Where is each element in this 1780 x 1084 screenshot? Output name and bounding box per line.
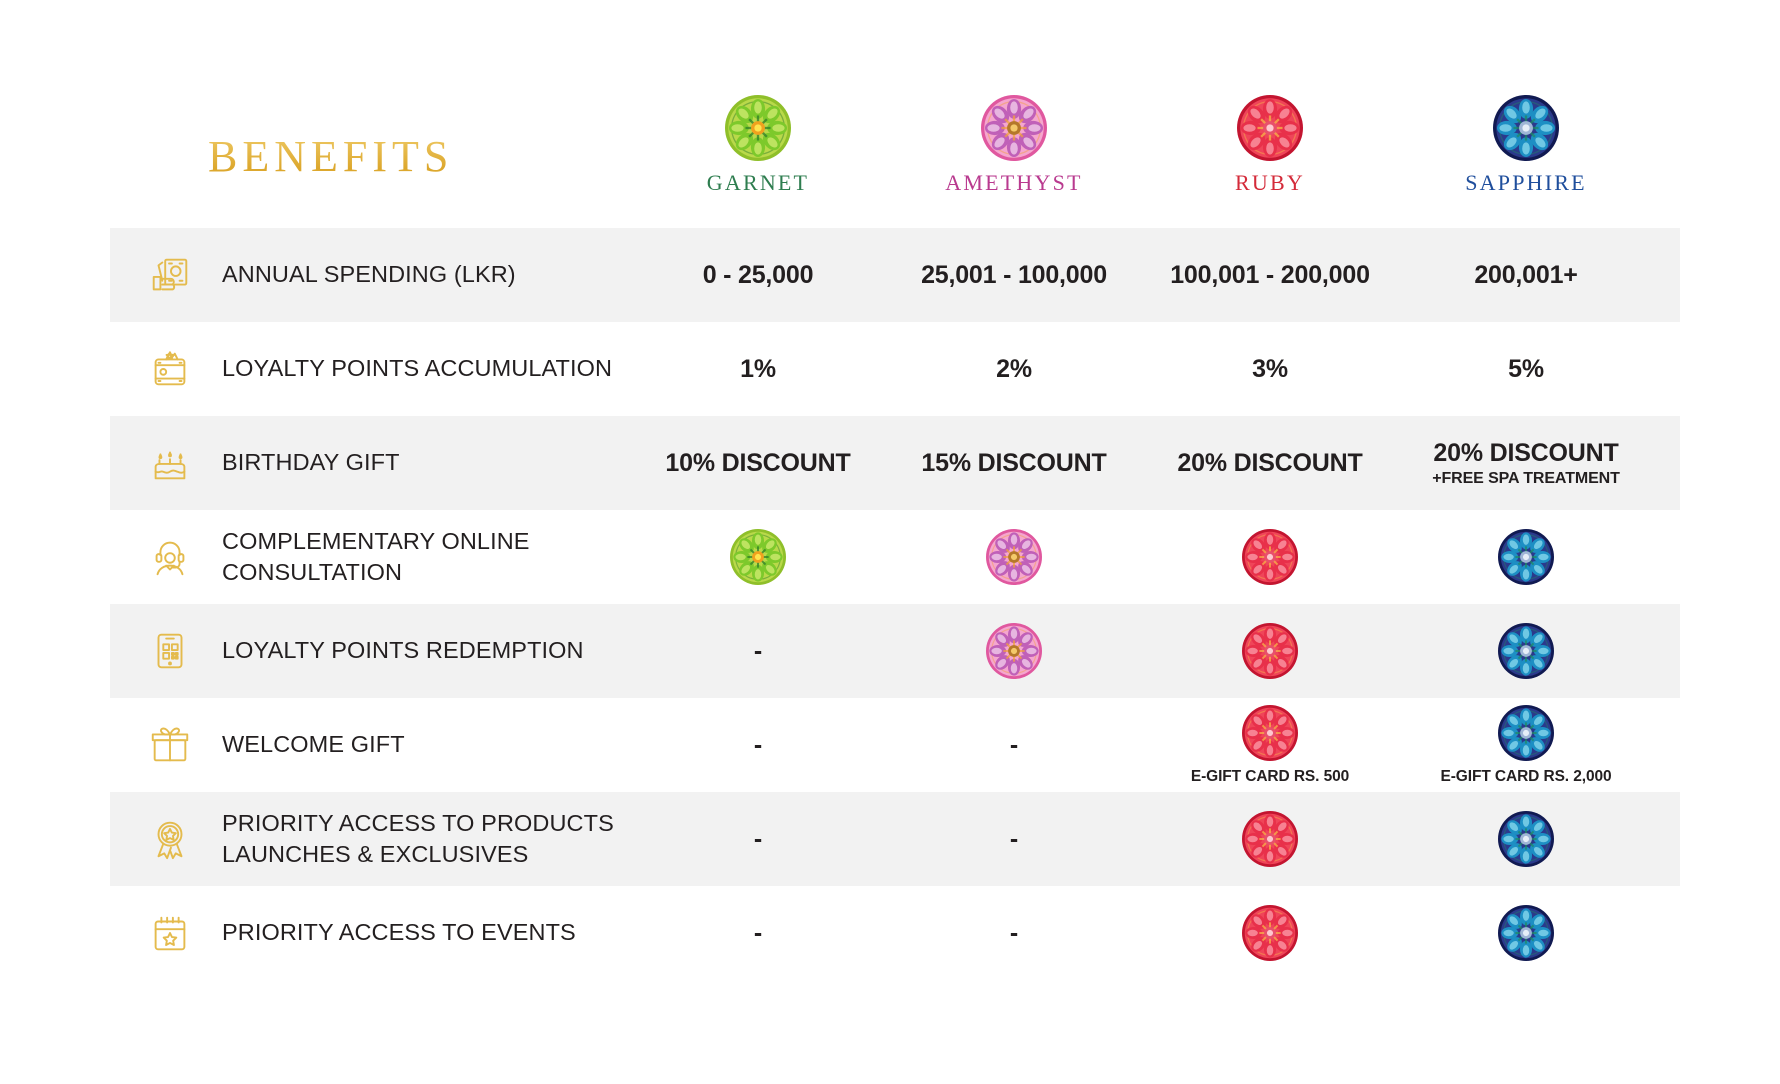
benefit-value-cell: 20% DISCOUNT [1142,416,1398,510]
benefit-value-cell: - [630,604,886,698]
benefit-value-cell [1398,510,1654,604]
benefit-value-cell [1398,886,1654,980]
benefit-value-cell: E-GIFT CARD RS. 2,000 [1398,698,1654,792]
tier-header-amethyst: AMETHYST [886,95,1142,200]
sapphire-gem-icon [1498,811,1554,867]
benefit-label-cell: WELCOME GIFT [110,698,630,792]
not-available-dash: - [754,731,762,760]
table-row: ANNUAL SPENDING (LKR)0 - 25,00025,001 - … [110,228,1680,322]
benefit-label: COMPLEMENTARY ONLINE CONSULTATION [222,526,530,588]
sapphire-gem-icon [1493,95,1559,170]
sapphire-gem-icon [1498,623,1554,679]
value-text: 15% DISCOUNT [921,449,1106,478]
ruby-gem-icon [1242,623,1298,679]
tier-name-label: RUBY [1235,170,1305,196]
not-available-dash: - [754,919,762,948]
benefit-value-cell [630,510,886,604]
benefit-value-cell: 0 - 25,000 [630,228,886,322]
not-available-dash: - [1010,919,1018,948]
table-row: PRIORITY ACCESS TO PRODUCTS LAUNCHES & E… [110,792,1680,886]
benefit-label: ANNUAL SPENDING (LKR) [222,259,516,290]
birthday-cake-icon [140,435,200,491]
table-row: WELCOME GIFT-- [110,698,1680,792]
value-subtext: +FREE SPA TREATMENT [1432,470,1620,488]
value-text: 1% [740,355,776,384]
benefit-value-cell: - [630,792,886,886]
value-text: 20% DISCOUNT [1433,439,1618,468]
table-body: ANNUAL SPENDING (LKR)0 - 25,00025,001 - … [110,228,1680,980]
benefit-value-cell: 1% [630,322,886,416]
benefit-value-cell [1142,886,1398,980]
benefit-value-cell: 2% [886,322,1142,416]
calendar-star-icon [140,905,200,961]
benefit-value-cell [1142,792,1398,886]
benefit-value-cell: - [630,698,886,792]
cash-in-hand-icon [140,247,200,303]
benefit-value-cell: 3% [1142,322,1398,416]
benefit-label: BIRTHDAY GIFT [222,447,400,478]
benefit-value-cell: E-GIFT CARD RS. 500 [1142,698,1398,792]
benefit-value-cell [1398,604,1654,698]
value-text: 5% [1508,355,1544,384]
value-text: 2% [996,355,1032,384]
award-ribbon-icon [140,811,200,867]
table-row: PRIORITY ACCESS TO EVENTS-- [110,886,1680,980]
benefit-label: LOYALTY POINTS ACCUMULATION [222,353,612,384]
ruby-gem-icon [1237,95,1303,170]
ruby-gem-icon [1242,705,1298,761]
benefit-value-cell [886,604,1142,698]
wallet-icon [140,341,200,397]
benefit-value-cell: - [886,792,1142,886]
value-text: 25,001 - 100,000 [921,261,1107,290]
ruby-gem-icon [1242,811,1298,867]
benefit-value-cell [1142,604,1398,698]
benefits-comparison-table: BENEFITS [0,0,1780,1084]
benefit-label: PRIORITY ACCESS TO EVENTS [222,917,576,948]
value-text: 200,001+ [1474,261,1577,290]
benefit-value-cell: 15% DISCOUNT [886,416,1142,510]
sapphire-gem-icon [1498,705,1554,761]
benefit-value-cell [886,510,1142,604]
table-header: BENEFITS [110,86,1680,200]
benefit-value-cell: 10% DISCOUNT [630,416,886,510]
tier-header-garnet: GARNET [630,95,886,200]
garnet-gem-icon [730,529,786,585]
not-available-dash: - [754,825,762,854]
value-caption: E-GIFT CARD RS. 500 [1191,768,1349,786]
tier-name-label: GARNET [707,170,809,196]
value-text: 0 - 25,000 [703,261,814,290]
value-text: 100,001 - 200,000 [1170,261,1370,290]
not-available-dash: - [1010,825,1018,854]
headset-support-icon [140,529,200,585]
table-row: LOYALTY POINTS REDEMPTION- [110,604,1680,698]
benefit-label-cell: BIRTHDAY GIFT [110,416,630,510]
benefit-value-cell: - [630,886,886,980]
benefit-label-cell: LOYALTY POINTS ACCUMULATION [110,322,630,416]
mobile-qr-icon [140,623,200,679]
tier-name-label: AMETHYST [945,170,1082,196]
benefit-value-cell: 20% DISCOUNT+FREE SPA TREATMENT [1398,416,1654,510]
amethyst-gem-icon [986,529,1042,585]
benefit-value-cell: - [886,698,1142,792]
amethyst-gem-icon [981,95,1047,170]
table-row: COMPLEMENTARY ONLINE CONSULTATION [110,510,1680,604]
ruby-gem-icon [1242,905,1298,961]
benefit-value-cell [1142,510,1398,604]
benefit-value-cell: 25,001 - 100,000 [886,228,1142,322]
benefit-label: PRIORITY ACCESS TO PRODUCTS LAUNCHES & E… [222,808,614,870]
sapphire-gem-icon [1498,529,1554,585]
value-text: 20% DISCOUNT [1177,449,1362,478]
benefit-label-cell: LOYALTY POINTS REDEMPTION [110,604,630,698]
table-row: LOYALTY POINTS ACCUMULATION1%2%3%5% [110,322,1680,416]
ruby-gem-icon [1242,529,1298,585]
benefit-label-cell: PRIORITY ACCESS TO PRODUCTS LAUNCHES & E… [110,792,630,886]
sapphire-gem-icon [1498,905,1554,961]
gift-box-icon [140,717,200,773]
tier-header-sapphire: SAPPHIRE [1398,95,1654,200]
not-available-dash: - [754,637,762,666]
benefit-label: WELCOME GIFT [222,729,405,760]
benefit-value-cell: 5% [1398,322,1654,416]
benefit-label-cell: COMPLEMENTARY ONLINE CONSULTATION [110,510,630,604]
benefit-value-cell [1398,792,1654,886]
value-caption: E-GIFT CARD RS. 2,000 [1440,768,1611,786]
table-row: BIRTHDAY GIFT10% DISCOUNT15% DISCOUNT20%… [110,416,1680,510]
benefit-value-cell: 200,001+ [1398,228,1654,322]
tier-header-ruby: RUBY [1142,95,1398,200]
amethyst-gem-icon [986,623,1042,679]
not-available-dash: - [1010,731,1018,760]
benefit-label-cell: PRIORITY ACCESS TO EVENTS [110,886,630,980]
page-title: BENEFITS [110,131,630,200]
value-text: 10% DISCOUNT [665,449,850,478]
value-text: 3% [1252,355,1288,384]
benefit-label-cell: ANNUAL SPENDING (LKR) [110,228,630,322]
tier-name-label: SAPPHIRE [1465,170,1587,196]
benefit-value-cell: - [886,886,1142,980]
benefit-value-cell: 100,001 - 200,000 [1142,228,1398,322]
garnet-gem-icon [725,95,791,170]
benefit-label: LOYALTY POINTS REDEMPTION [222,635,584,666]
